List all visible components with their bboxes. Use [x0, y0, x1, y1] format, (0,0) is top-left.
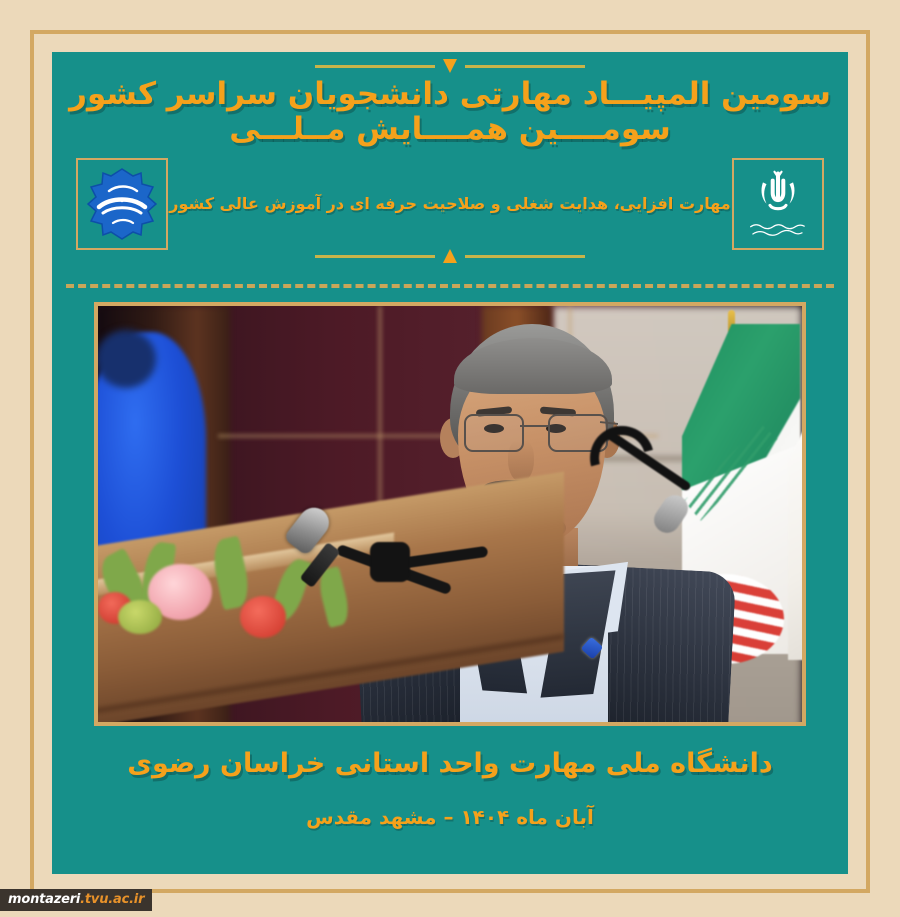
poster-title-line-2: سومــــین همــــایش مــلـــی [52, 113, 848, 146]
speaker-glasses [464, 414, 604, 448]
seated-person-head [98, 330, 156, 388]
iran-ministry-of-science-logo [732, 158, 824, 250]
watermark-domain: .tvu.ac.ir [80, 892, 144, 907]
poster-title-line-1: سومین المپیـــاد مهارتی دانشجویان سراسر … [52, 78, 848, 111]
microphone-joint [370, 542, 410, 582]
skills-logo-graphic [85, 167, 159, 241]
site-watermark: montazeri.tvu.ac.ir [0, 889, 152, 911]
ornament-rule-right [315, 65, 435, 68]
flower-green-bud [118, 600, 162, 634]
national-skills-university-logo [76, 158, 168, 250]
flower-red-2 [240, 596, 286, 638]
teal-content-panel: سومین المپیـــاد مهارتی دانشجویان سراسر … [52, 52, 848, 874]
watermark-site-name: montazeri [8, 892, 80, 907]
poster-background: سومین المپیـــاد مهارتی دانشجویان سراسر … [0, 0, 900, 917]
triangle-up-icon [443, 249, 457, 263]
title-block: سومین المپیـــاد مهارتی دانشجویان سراسر … [52, 78, 848, 147]
iran-emblem-graphic [741, 167, 815, 241]
organization-flag-cloth [788, 376, 802, 660]
poster-footer: دانشگاه ملی مهارت واحد استانی خراسان رضو… [52, 732, 848, 874]
date-location-text: آبان ماه ۱۴۰۴ – مشهد مقدس [52, 805, 848, 829]
photo-content: NI EU [98, 306, 802, 722]
ornament-bottom [52, 250, 848, 262]
ornament-top [52, 60, 848, 72]
poster-header: سومین المپیـــاد مهارتی دانشجویان سراسر … [52, 52, 848, 282]
glasses-bridge [520, 425, 548, 427]
triangle-down-icon [443, 59, 457, 73]
organization-flag: NI EU [788, 350, 802, 660]
speaker-nose [508, 440, 534, 482]
speaker-at-podium-photo: NI EU [94, 302, 806, 726]
ornament-rule-right-2 [315, 255, 435, 258]
ornament-rule-left [465, 65, 585, 68]
poster-subtitle: مهارت افزایی، هدایت شغلی و صلاحیت حرفه ا… [52, 194, 848, 213]
dashed-divider [66, 284, 834, 288]
ornament-rule-left-2 [465, 255, 585, 258]
venue-text: دانشگاه ملی مهارت واحد استانی خراسان رضو… [52, 748, 848, 779]
